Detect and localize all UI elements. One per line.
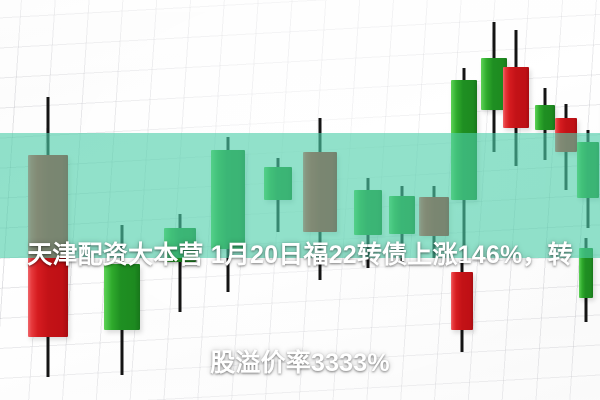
candle-body-up — [104, 264, 140, 330]
candlestick-chart-image: 天津配资大本营 1月20日福22转债上涨146%，转 股溢价率3333% — [0, 0, 600, 400]
caption-band — [0, 133, 600, 258]
candle-body-up — [535, 105, 555, 130]
candle-body-down — [503, 67, 529, 128]
